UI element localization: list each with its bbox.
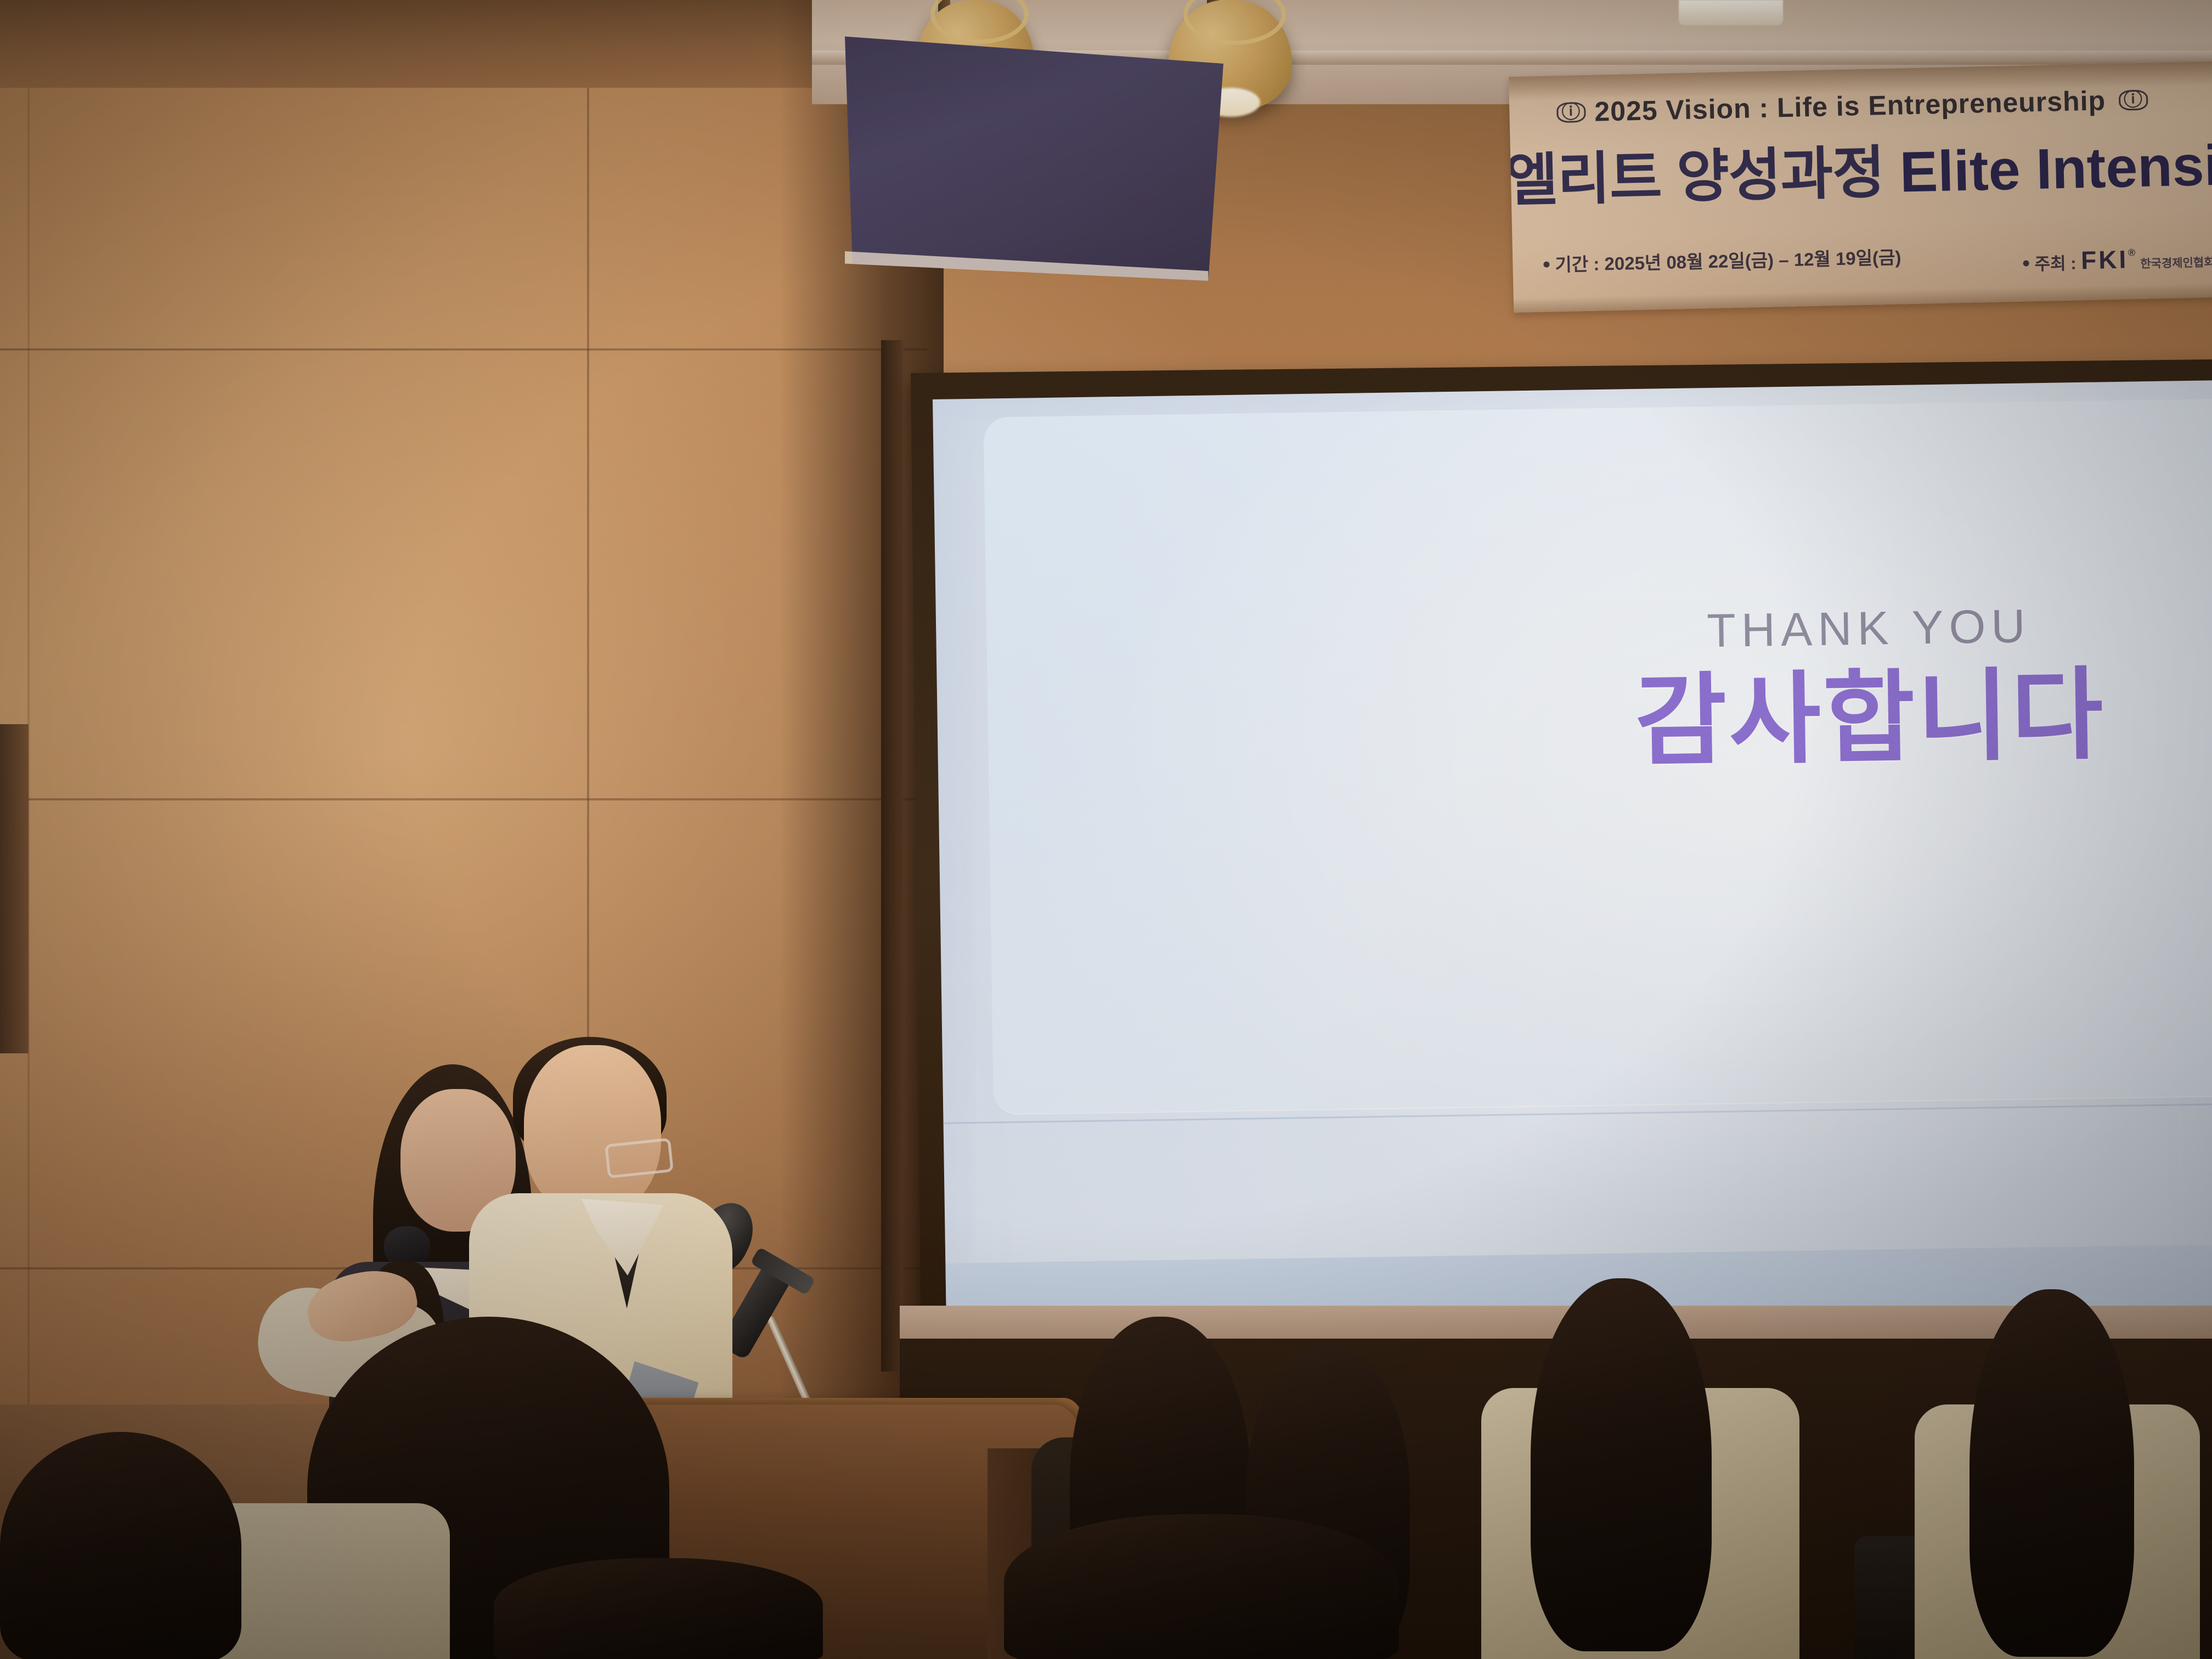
banner-period-value: 2025년 08월 22일(금) – 12월 19일(금) <box>1604 247 1901 274</box>
banner-period-row: 기간 : 2025년 08월 22일(금) – 12월 19일(금) <box>1543 242 1901 276</box>
banner-host-row: 주최 : FKI® 한국경제인협회 <box>2023 242 2212 276</box>
registered-mark-icon: ® <box>2128 247 2136 258</box>
screen-glare <box>933 380 2212 1348</box>
banner-bullet-mark-icon: ⓘ <box>2119 90 2148 111</box>
audience-head-hair <box>1970 1289 2134 1657</box>
banner-title-row: 제45기 미래엘리트 양성과정 Elite Intensive <box>1509 117 2212 223</box>
ceiling-light-panel <box>1679 0 1783 25</box>
slide-text-block: THANK YOU 감사합니다 <box>1561 600 2178 776</box>
spotlight-ring <box>1183 0 1286 45</box>
bullet-dot-icon <box>2023 260 2029 266</box>
bullet-dot-icon <box>1543 261 1549 267</box>
banner-title-english: Elite Intensive <box>1899 132 2212 204</box>
presenter-male-head <box>524 1045 661 1215</box>
auditorium-photo: ⓘ2025 Vision : Life is Entrepreneurshipⓘ… <box>0 0 2212 1659</box>
banner-host-label: 주최 : <box>2034 254 2076 274</box>
slide-korean-thanks: 감사합니다 <box>1562 659 2178 776</box>
hanging-navy-banner <box>845 34 1223 281</box>
fki-logo-text: FKI <box>2081 245 2129 274</box>
audience-head-hair <box>1004 1514 1399 1659</box>
eyeglasses-icon <box>605 1138 674 1178</box>
audience-head-hair <box>0 1432 241 1659</box>
banner-title-korean: 제45기 미래엘리트 양성과정 <box>1509 141 1900 219</box>
audience-head-hair <box>1531 1278 1712 1651</box>
wall-recess <box>0 724 29 1053</box>
banner-period-label: 기간 : <box>1555 253 1600 275</box>
audience-head-hair <box>494 1558 823 1659</box>
banner-bullet-mark-icon: ⓘ <box>1556 102 1586 123</box>
slide-thank-you: THANK YOU <box>1561 600 2176 657</box>
spotlight-ring <box>930 0 1029 44</box>
wall-dark-edge <box>881 340 903 1372</box>
event-banner: ⓘ2025 Vision : Life is Entrepreneurshipⓘ… <box>1509 61 2212 313</box>
wall-seam-vertical <box>27 0 30 1404</box>
banner-host-korean: 한국경제인협회 <box>2140 256 2212 270</box>
projection-screen: THANK YOU 감사합니다 <box>933 380 2212 1348</box>
